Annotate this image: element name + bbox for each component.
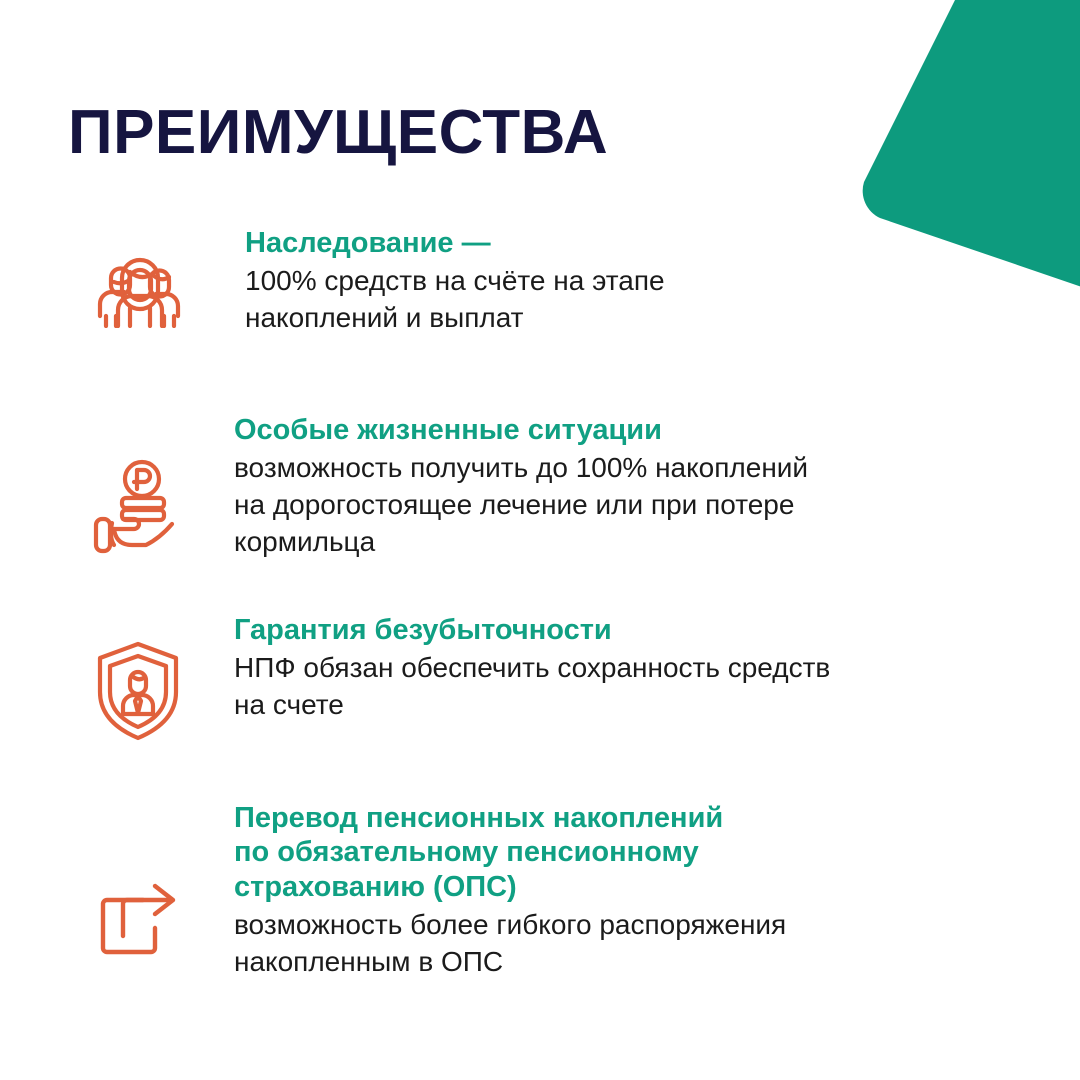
benefits-list: Наследование — 100% средств на счёте на … [0, 226, 1080, 981]
benefit-body: 100% средств на счёте на этапе накоплени… [245, 263, 920, 337]
share-arrow-out-icon [78, 801, 198, 973]
benefit-item-loss-guarantee: Гарантия безубыточности НПФ обязан обесп… [0, 613, 1080, 747]
benefit-body: возможность более гибкого распоряжения н… [234, 907, 920, 981]
benefit-heading: Особые жизненные ситуации [234, 413, 920, 447]
hand-holding-ruble-coins-icon [78, 413, 198, 569]
shield-person-icon [78, 613, 198, 747]
benefit-text-block: Перевод пенсионных накоплений по обязате… [198, 801, 1080, 981]
benefit-text-block: Особые жизненные ситуации возможность по… [198, 413, 1080, 561]
benefit-body: НПФ обязан обеспечить сохранность средст… [234, 650, 920, 724]
benefit-item-special-situations: Особые жизненные ситуации возможность по… [0, 413, 1080, 569]
benefit-body: возможность получить до 100% накоплений … [234, 450, 920, 561]
benefit-heading: Гарантия безубыточности [234, 613, 920, 647]
benefit-heading: Наследование — [245, 226, 920, 260]
benefit-item-ops-transfer: Перевод пенсионных накоплений по обязате… [0, 801, 1080, 981]
page-title: ПРЕИМУЩЕСТВА [68, 100, 608, 165]
family-group-icon [78, 226, 198, 330]
benefit-item-inheritance: Наследование — 100% средств на счёте на … [0, 226, 1080, 337]
benefit-heading: Перевод пенсионных накоплений по обязате… [234, 801, 920, 904]
benefit-text-block: Гарантия безубыточности НПФ обязан обесп… [198, 613, 1080, 724]
benefit-text-block: Наследование — 100% средств на счёте на … [198, 226, 1080, 337]
